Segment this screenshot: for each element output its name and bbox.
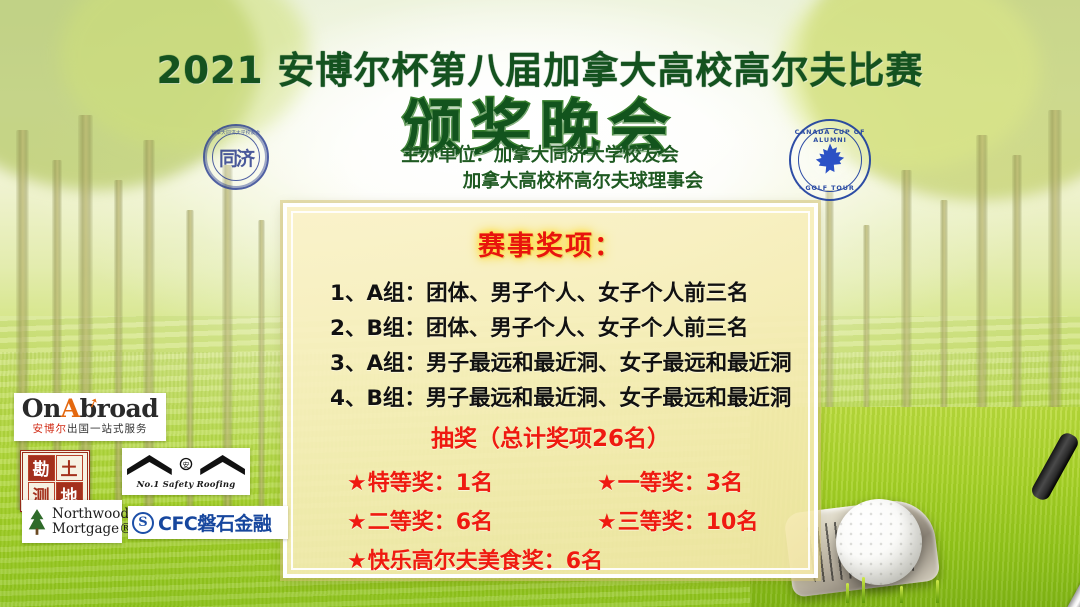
onabroad-tagline-dark: 出国一站式服务 (67, 423, 148, 435)
star-icon: ★ (597, 510, 617, 535)
grass-blade (862, 577, 865, 603)
sponsor-logo-no1-safety-roofing: 安 No.1 Safety Roofing (122, 448, 250, 495)
prize-label: 一等奖： (618, 471, 706, 496)
lottery-total-line: 抽奖（总计奖项26名） (309, 420, 792, 458)
organizer-line-1: 主办单位：加拿大同济大学校友会 (401, 145, 679, 166)
onabroad-tagline: 安博尔出国一站式服务 (19, 422, 161, 436)
cfc-mark-icon: S (132, 512, 154, 534)
grass-blade (846, 583, 849, 603)
star-icon: ★ (347, 549, 367, 574)
prize-row: ★特等奖：1名 ★一等奖：3名 (347, 464, 792, 503)
golf-ball-dimples (836, 499, 922, 585)
prize-count: 3名 (706, 471, 743, 496)
award-item: 2、B组：团体、男子个人、女子个人前三名 (309, 311, 792, 346)
prize-label: 二等奖： (368, 510, 456, 535)
tree-icon (26, 507, 48, 537)
northwood-wordmark: Northwood Mortgage® (52, 507, 133, 537)
sponsor-logo-northwood-mortgage: Northwood Mortgage® (22, 500, 122, 543)
prize-count: 6名 (456, 510, 493, 535)
survey-char: 土 (56, 455, 83, 481)
prize-tier: ★快乐高尔夫美食奖：6名 (347, 542, 603, 581)
sponsor-logo-cfc: S CFC磐石金融 (128, 506, 288, 539)
svg-text:安: 安 (182, 461, 189, 470)
prize-label: 快乐高尔夫美食奖： (368, 549, 566, 574)
award-item: 1、A组：团体、男子个人、女子个人前三名 (309, 276, 792, 311)
grass-blade (900, 586, 903, 603)
roofing-tagline: No.1 Safety Roofing (125, 480, 247, 490)
award-list-panel: 赛事奖项： 1、A组：团体、男子个人、女子个人前三名 2、B组：团体、男子个人、… (283, 203, 818, 578)
sponsor-logo-onabroad: OnAbroad ➚ 安博尔出国一站式服务 (14, 393, 166, 441)
prize-label: 三等奖： (618, 510, 706, 535)
prize-tier: ★特等奖：1名 (347, 464, 597, 503)
maple-leaf-icon (810, 141, 850, 181)
roof-shape-icon: 安 (125, 451, 247, 479)
canada-cup-of-alumni-seal-icon: CANADA CUP OF ALUMNI · GOLF TOUR · (789, 119, 871, 201)
organizer-line-2: 加拿大高校杯高尔夫球理事会 (0, 169, 1080, 195)
onabroad-on: On (22, 394, 61, 423)
golf-ball (836, 499, 922, 585)
star-icon: ★ (347, 471, 367, 496)
prize-tier: ★二等奖：6名 (347, 503, 597, 542)
prize-row: ★二等奖：6名 ★三等奖：10名 (347, 503, 792, 542)
prize-tier: ★一等奖：3名 (597, 464, 743, 503)
tongji-seal-center: 同济 (212, 133, 260, 181)
organizer-block: 主办单位：加拿大同济大学校友会 加拿大高校杯高尔夫球理事会 (0, 143, 1080, 195)
prize-label: 特等奖： (368, 471, 456, 496)
cfc-wordmark: CFC磐石金融 (158, 509, 271, 536)
prize-row: ★快乐高尔夫美食奖：6名 (347, 542, 792, 581)
prize-tier-grid: ★特等奖：1名 ★一等奖：3名 ★二等奖：6名 ★三等奖：10名 (309, 464, 792, 581)
prize-tier: ★三等奖：10名 (597, 503, 758, 542)
prize-count: 6名 (566, 549, 603, 574)
award-item: 4、B组：男子最远和最近洞、女子最远和最近洞 (309, 381, 792, 416)
onabroad-tagline-red: 安博尔 (33, 423, 68, 435)
grass-blade (936, 580, 939, 603)
northwood-line-1: Northwood (52, 507, 133, 522)
canada-seal-arc-bottom: · GOLF TOUR · (791, 184, 869, 192)
award-item: 3、A组：男子最远和最近洞、女子最远和最近洞 (309, 346, 792, 381)
award-panel-heading: 赛事奖项： (309, 224, 792, 263)
onabroad-a: A (61, 394, 80, 423)
star-icon: ★ (597, 471, 617, 496)
prize-count: 10名 (706, 510, 759, 535)
tongji-alumni-seal-icon: 加拿大同济大学校友会 同济 (203, 124, 269, 190)
golf-award-ceremony-poster: 2021 安博尔杯第八届加拿大高校高尔夫比赛 颁奖晚会 主办单位：加拿大同济大学… (0, 0, 1080, 607)
prize-count: 1名 (456, 471, 493, 496)
northwood-line-2: Mortgage® (52, 522, 133, 537)
survey-char: 勘 (28, 455, 55, 481)
star-icon: ★ (347, 510, 367, 535)
